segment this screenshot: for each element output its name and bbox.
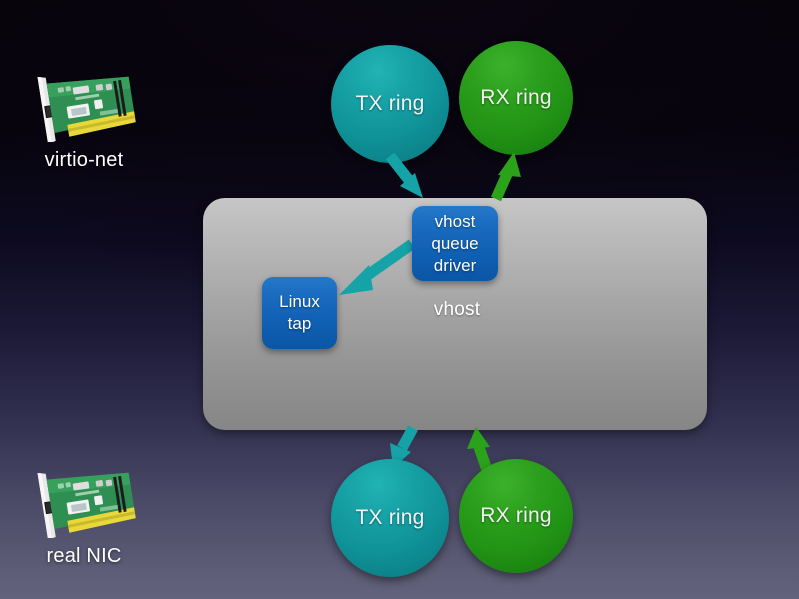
- network-card-icon: [20, 458, 148, 538]
- vhost-queue-driver-line-1: vhost: [435, 211, 476, 233]
- linux-tap-box[interactable]: Linux tap: [262, 277, 337, 349]
- rx-ring-top-label: RX ring: [480, 86, 551, 110]
- slide-canvas: virtio-net: [0, 0, 799, 599]
- tx-ring-top-label: TX ring: [355, 92, 424, 116]
- vhost-queue-driver-box[interactable]: vhost queue driver: [412, 206, 498, 281]
- vhost-queue-driver-line-2: queue: [431, 233, 478, 255]
- tx-ring-top[interactable]: TX ring: [331, 45, 449, 163]
- vhost-queue-driver-line-3: driver: [434, 255, 477, 277]
- nic-caption-real-nic: real NIC: [20, 545, 148, 568]
- tx-ring-bottom[interactable]: TX ring: [331, 459, 449, 577]
- vhost-panel-label: vhost: [411, 299, 503, 321]
- arrow-rx-bottom-to-panel: [467, 427, 490, 470]
- network-card-icon: [20, 62, 148, 142]
- linux-tap-line-2: tap: [288, 313, 312, 335]
- rx-ring-bottom-label: RX ring: [480, 504, 551, 528]
- rx-ring-top[interactable]: RX ring: [459, 41, 573, 155]
- tx-ring-bottom-label: TX ring: [355, 506, 424, 530]
- arrow-panel-to-rx-top: [496, 152, 521, 199]
- nic-group-virtio-net: virtio-net: [20, 62, 148, 172]
- rx-ring-bottom[interactable]: RX ring: [459, 459, 573, 573]
- nic-group-real-nic: real NIC: [20, 458, 148, 568]
- nic-caption-virtio-net: virtio-net: [20, 149, 148, 172]
- linux-tap-line-1: Linux: [279, 291, 320, 313]
